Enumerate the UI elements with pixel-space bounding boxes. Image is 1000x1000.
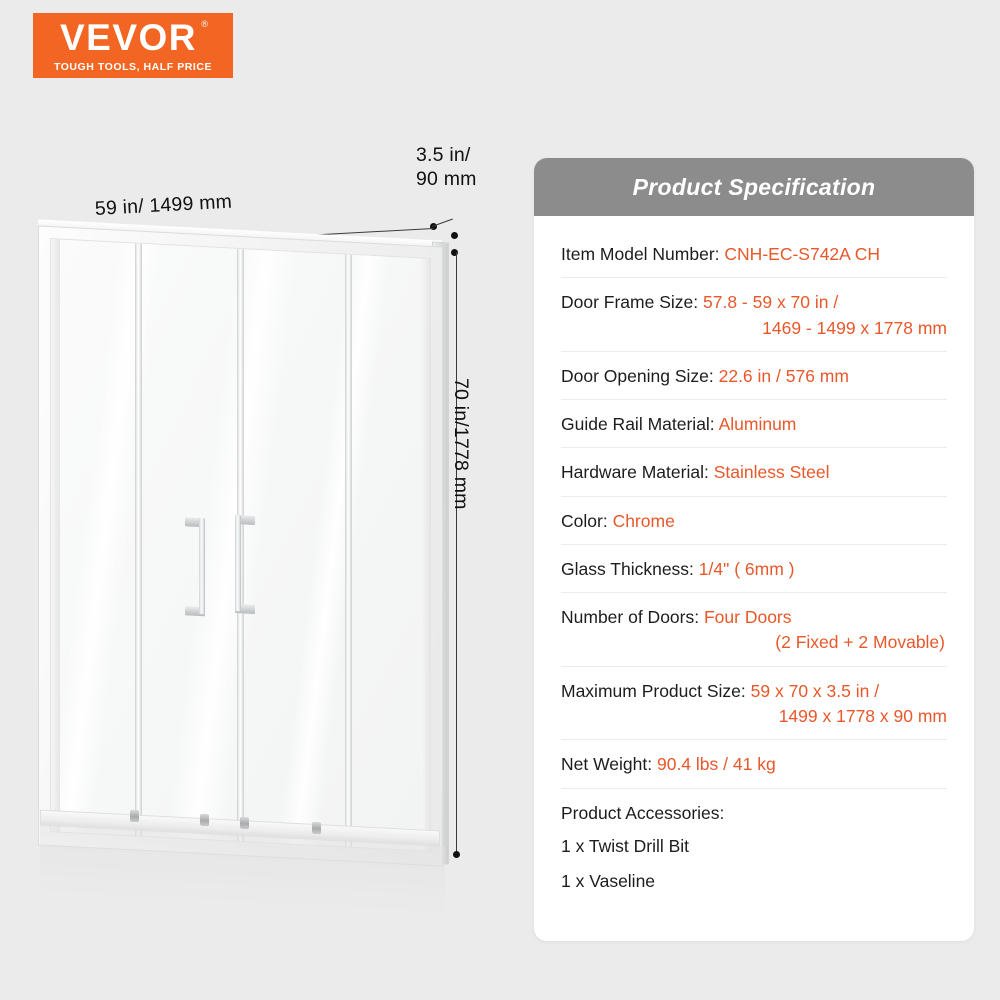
roller-guide-1 bbox=[130, 810, 139, 822]
height-dimension-label: 70 in/1778 mm bbox=[449, 378, 472, 510]
glass-reflection-1 bbox=[50, 238, 174, 852]
spec-line: Glass Thickness: 1/4" ( 6mm ) bbox=[561, 556, 947, 582]
brand-wordmark: VEVOR® bbox=[60, 19, 206, 56]
width-dimension-label: 59 in/ 1499 mm bbox=[94, 191, 232, 221]
depth-dim-dot-top bbox=[451, 232, 458, 239]
spec-label: Guide Rail Material: bbox=[561, 414, 715, 434]
spec-row-item-model-number: Item Model Number: CNH-EC-S742A CH bbox=[561, 230, 947, 278]
accessory-item: 1 x Vaseline bbox=[561, 861, 947, 896]
brand-tagline: TOUGH TOOLS, HALF PRICE bbox=[54, 61, 212, 73]
spec-row-maximum-product-size: Maximum Product Size: 59 x 70 x 3.5 in /… bbox=[561, 667, 947, 741]
glass-reflection-3 bbox=[266, 238, 399, 852]
spec-value: Stainless Steel bbox=[714, 462, 830, 482]
handle-left-bar bbox=[199, 518, 205, 614]
brand-name: VEVOR bbox=[60, 17, 197, 58]
spec-row-color: Color: Chrome bbox=[561, 497, 947, 545]
spec-value: Four Doors bbox=[704, 607, 792, 627]
spec-table: Item Model Number: CNH-EC-S742A CH Door … bbox=[534, 216, 974, 902]
spec-row-product-accessories: Product Accessories: 1 x Twist Drill Bit… bbox=[561, 789, 947, 902]
spec-line: Door Frame Size: 57.8 - 59 x 70 in / bbox=[561, 289, 947, 315]
product-specification-card: Product Specification Item Model Number:… bbox=[534, 158, 974, 941]
handle-right-bar bbox=[235, 515, 241, 611]
spec-line: Number of Doors: Four Doors bbox=[561, 604, 947, 630]
height-dim-dot-bottom bbox=[453, 851, 460, 858]
roller-guide-4 bbox=[312, 822, 321, 834]
spec-value: CNH-EC-S742A CH bbox=[724, 244, 880, 264]
registered-mark-icon: ® bbox=[201, 20, 208, 29]
roller-guide-2 bbox=[200, 814, 209, 826]
spec-label: Net Weight: bbox=[561, 754, 652, 774]
spec-value-continued: (2 Fixed + 2 Movable) bbox=[561, 630, 947, 655]
spec-row-door-frame-size: Door Frame Size: 57.8 - 59 x 70 in / 146… bbox=[561, 278, 947, 352]
spec-card-header: Product Specification bbox=[534, 158, 974, 216]
spec-value-continued: 1469 - 1499 x 1778 mm bbox=[561, 316, 947, 341]
spec-value-continued: 1499 x 1778 x 90 mm bbox=[561, 704, 947, 729]
spec-value: 1/4" ( 6mm ) bbox=[699, 559, 795, 579]
spec-row-door-opening-size: Door Opening Size: 22.6 in / 576 mm bbox=[561, 352, 947, 400]
roller-guide-3 bbox=[240, 817, 249, 829]
accessories-label: Product Accessories: bbox=[561, 800, 947, 826]
spec-label: Glass Thickness: bbox=[561, 559, 694, 579]
spec-line: Guide Rail Material: Aluminum bbox=[561, 411, 947, 437]
depth-dimension-line1: 3.5 in/ bbox=[416, 144, 477, 168]
spec-row-net-weight: Net Weight: 90.4 lbs / 41 kg bbox=[561, 740, 947, 788]
spec-value: 90.4 lbs / 41 kg bbox=[657, 754, 776, 774]
spec-label: Item Model Number: bbox=[561, 244, 720, 264]
spec-line: Door Opening Size: 22.6 in / 576 mm bbox=[561, 363, 947, 389]
page-root: VEVOR® TOUGH TOOLS, HALF PRICE 59 in/ 14… bbox=[0, 0, 1000, 1000]
spec-line: Maximum Product Size: 59 x 70 x 3.5 in / bbox=[561, 678, 947, 704]
spec-label: Number of Doors: bbox=[561, 607, 699, 627]
spec-line: Net Weight: 90.4 lbs / 41 kg bbox=[561, 751, 947, 777]
spec-label: Door Frame Size: bbox=[561, 292, 698, 312]
spec-value: 57.8 - 59 x 70 in / bbox=[703, 292, 838, 312]
spec-row-number-of-doors: Number of Doors: Four Doors (2 Fixed + 2… bbox=[561, 593, 947, 667]
depth-dimension-line2: 90 mm bbox=[416, 168, 477, 192]
spec-row-glass-thickness: Glass Thickness: 1/4" ( 6mm ) bbox=[561, 545, 947, 593]
spec-line: Item Model Number: CNH-EC-S742A CH bbox=[561, 241, 947, 267]
height-dim-line bbox=[456, 252, 457, 854]
glass-panel-right-edge bbox=[421, 258, 430, 850]
spec-value: Chrome bbox=[613, 511, 675, 531]
spec-label: Door Opening Size: bbox=[561, 366, 714, 386]
accessory-item: 1 x Twist Drill Bit bbox=[561, 826, 947, 861]
panel-divider-3 bbox=[345, 254, 352, 846]
panel-divider-1 bbox=[135, 243, 142, 835]
spec-label: Color: bbox=[561, 511, 608, 531]
spec-label: Hardware Material: bbox=[561, 462, 709, 482]
glass-panel-left-edge bbox=[51, 239, 60, 831]
spec-value: 59 x 70 x 3.5 in / bbox=[751, 681, 879, 701]
spec-value: 22.6 in / 576 mm bbox=[719, 366, 849, 386]
glass-reflection-2 bbox=[154, 238, 307, 852]
spec-label: Maximum Product Size: bbox=[561, 681, 746, 701]
spec-title: Product Specification bbox=[633, 174, 876, 201]
spec-line: Hardware Material: Stainless Steel bbox=[561, 459, 947, 485]
spec-line: Color: Chrome bbox=[561, 508, 947, 534]
depth-dimension-label: 3.5 in/ 90 mm bbox=[416, 144, 477, 192]
vevor-logo: VEVOR® TOUGH TOOLS, HALF PRICE bbox=[33, 13, 233, 78]
spec-value: Aluminum bbox=[719, 414, 797, 434]
spec-row-hardware-material: Hardware Material: Stainless Steel bbox=[561, 448, 947, 496]
product-illustration: 59 in/ 1499 mm 3.5 in/ 90 mm 70 in/1778 … bbox=[0, 120, 520, 920]
spec-row-guide-rail-material: Guide Rail Material: Aluminum bbox=[561, 400, 947, 448]
